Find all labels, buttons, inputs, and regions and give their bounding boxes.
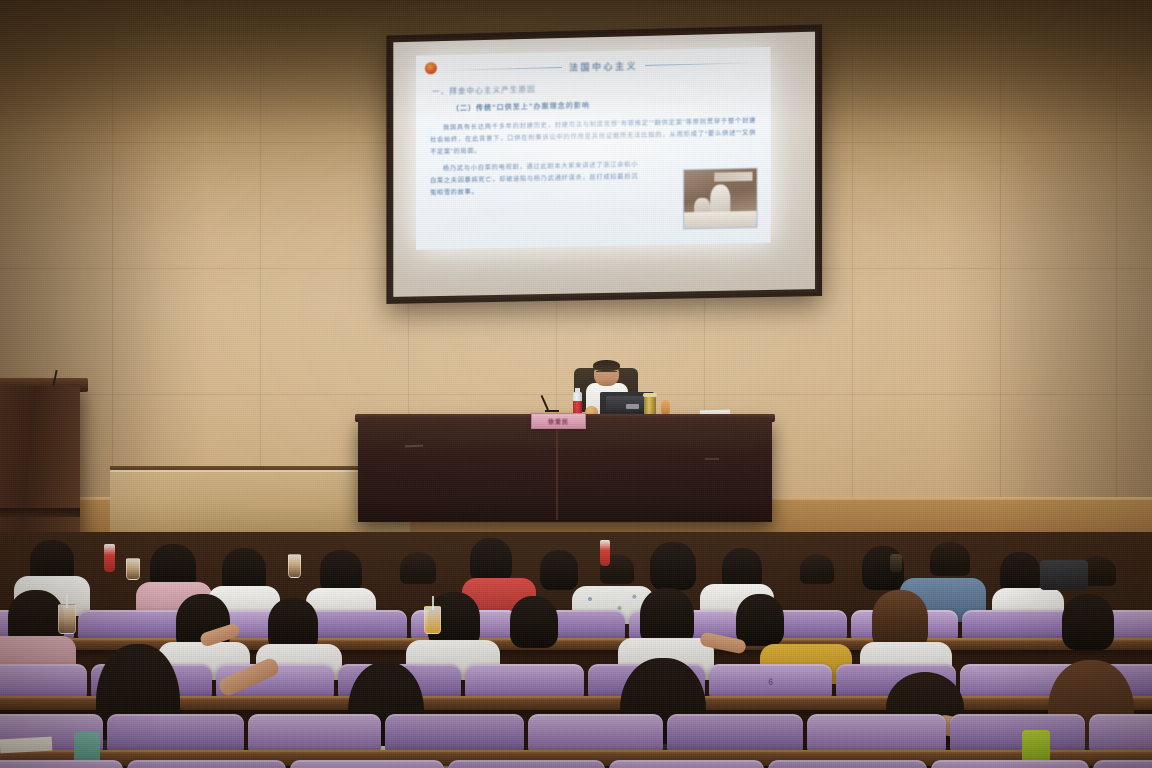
- lecturer-nameplate-text: 徐爱民: [548, 417, 569, 426]
- lecturer-glasses-icon: [596, 371, 617, 375]
- bubble-tea-cup: [126, 558, 140, 580]
- head-table-seam: [556, 424, 558, 520]
- lecture-hall-photo: 法国中心主义 一、拜金中心主义产生原因 （二）传统“口供至上”办案理念的影响 我…: [0, 0, 1152, 768]
- seat[interactable]: [667, 714, 804, 752]
- straw: [432, 596, 434, 610]
- seat[interactable]: [528, 714, 663, 752]
- seat[interactable]: [385, 714, 524, 752]
- student-head: [872, 590, 928, 650]
- seat[interactable]: [107, 714, 244, 752]
- laptop-screen: [606, 396, 648, 411]
- slide-photo: [683, 168, 757, 230]
- seat[interactable]: [0, 664, 87, 698]
- seat[interactable]: [950, 714, 1085, 752]
- head-table-scuff-right: [705, 458, 719, 460]
- slide-paragraph-1: 我国具有长达两千多年的封建历史，封建司法与制度思想“有罪推定”“翻供定案”等原则…: [430, 116, 756, 159]
- drink-bottle: [600, 540, 610, 566]
- seat[interactable]: [1089, 714, 1152, 752]
- orange-juice-cup: [424, 606, 441, 634]
- laptop-brand-icon: [626, 404, 639, 409]
- seat-number: 6: [768, 677, 773, 687]
- projection-screen: 法国中心主义 一、拜金中心主义产生原因 （二）传统“口供至上”办案理念的影响 我…: [386, 24, 822, 304]
- title-rule-left: [448, 67, 562, 71]
- seat[interactable]: [78, 610, 186, 640]
- seat[interactable]: [962, 610, 1072, 640]
- cola-bottle: [890, 554, 902, 572]
- slide-paragraph-2: 杨乃武与小白菜的电视剧，通过此剧本大家来讲述了浙江余杭小白菜之夫因暴病死亡，却被…: [430, 159, 638, 199]
- drink-cup: [288, 554, 301, 578]
- head-table: [358, 418, 772, 522]
- podium-base-band: [0, 508, 80, 517]
- seat[interactable]: [807, 714, 946, 752]
- seat[interactable]: [1093, 760, 1152, 768]
- student-head: [650, 542, 696, 590]
- bubble-tea-cup: [58, 604, 76, 634]
- desk-microphone-icon: [545, 392, 567, 412]
- slide-heading-1: 一、拜金中心主义产生原因: [432, 78, 760, 97]
- seat[interactable]: [609, 760, 764, 768]
- slide-photo-caption-band: [714, 172, 752, 182]
- bottle-cap: [575, 388, 580, 393]
- seat[interactable]: [931, 760, 1088, 768]
- student-head: [1062, 594, 1114, 650]
- slide-title: 法国中心主义: [562, 59, 645, 74]
- student-head: [540, 550, 578, 590]
- straw: [66, 594, 68, 608]
- bottle-label: [573, 401, 582, 413]
- seat[interactable]: [465, 664, 584, 698]
- seat[interactable]: [290, 760, 443, 768]
- student-head: [510, 596, 558, 648]
- lecturer-hair: [593, 360, 620, 371]
- seat[interactable]: [127, 760, 286, 768]
- seat[interactable]: [768, 760, 927, 768]
- student-head: [800, 554, 834, 584]
- seat-row-back: 4: [0, 610, 1152, 640]
- lecturer-nameplate: 徐爱民: [531, 413, 586, 429]
- title-rule-right: [645, 62, 760, 66]
- seat-row-foreground: [0, 760, 1152, 768]
- auditorium-seating: 4 3: [0, 532, 1152, 768]
- notebook: [0, 737, 52, 754]
- student-head: [400, 552, 436, 584]
- seat[interactable]: [248, 714, 381, 752]
- student-head: [470, 538, 512, 582]
- drink-bottle: [104, 544, 115, 572]
- student-head: [930, 542, 970, 576]
- student-head: [736, 594, 784, 646]
- slide-heading-2: （二）传统“口供至上”办案理念的影响: [452, 96, 760, 113]
- seat[interactable]: [0, 760, 123, 768]
- presentation-slide: 法国中心主义 一、拜金中心主义产生原因 （二）传统“口供至上”办案理念的影响 我…: [416, 47, 770, 249]
- student-head: [320, 550, 362, 592]
- slide-photo-floor: [684, 211, 756, 229]
- seat[interactable]: 6: [709, 664, 832, 698]
- slide-body: 我国具有长达两千多年的封建历史，封建司法与制度思想“有罪推定”“翻供定案”等原则…: [430, 116, 756, 200]
- tea-cup-lid: [643, 393, 657, 397]
- slide-photo-figure-1: [710, 184, 730, 215]
- seat[interactable]: [448, 760, 605, 768]
- slide-title-row: 法国中心主义: [426, 54, 760, 79]
- screen-surface: 法国中心主义 一、拜金中心主义产生原因 （二）传统“口供至上”办案理念的影响 我…: [393, 32, 815, 297]
- seat-row-front: [0, 714, 1152, 752]
- backpack: [1040, 560, 1088, 590]
